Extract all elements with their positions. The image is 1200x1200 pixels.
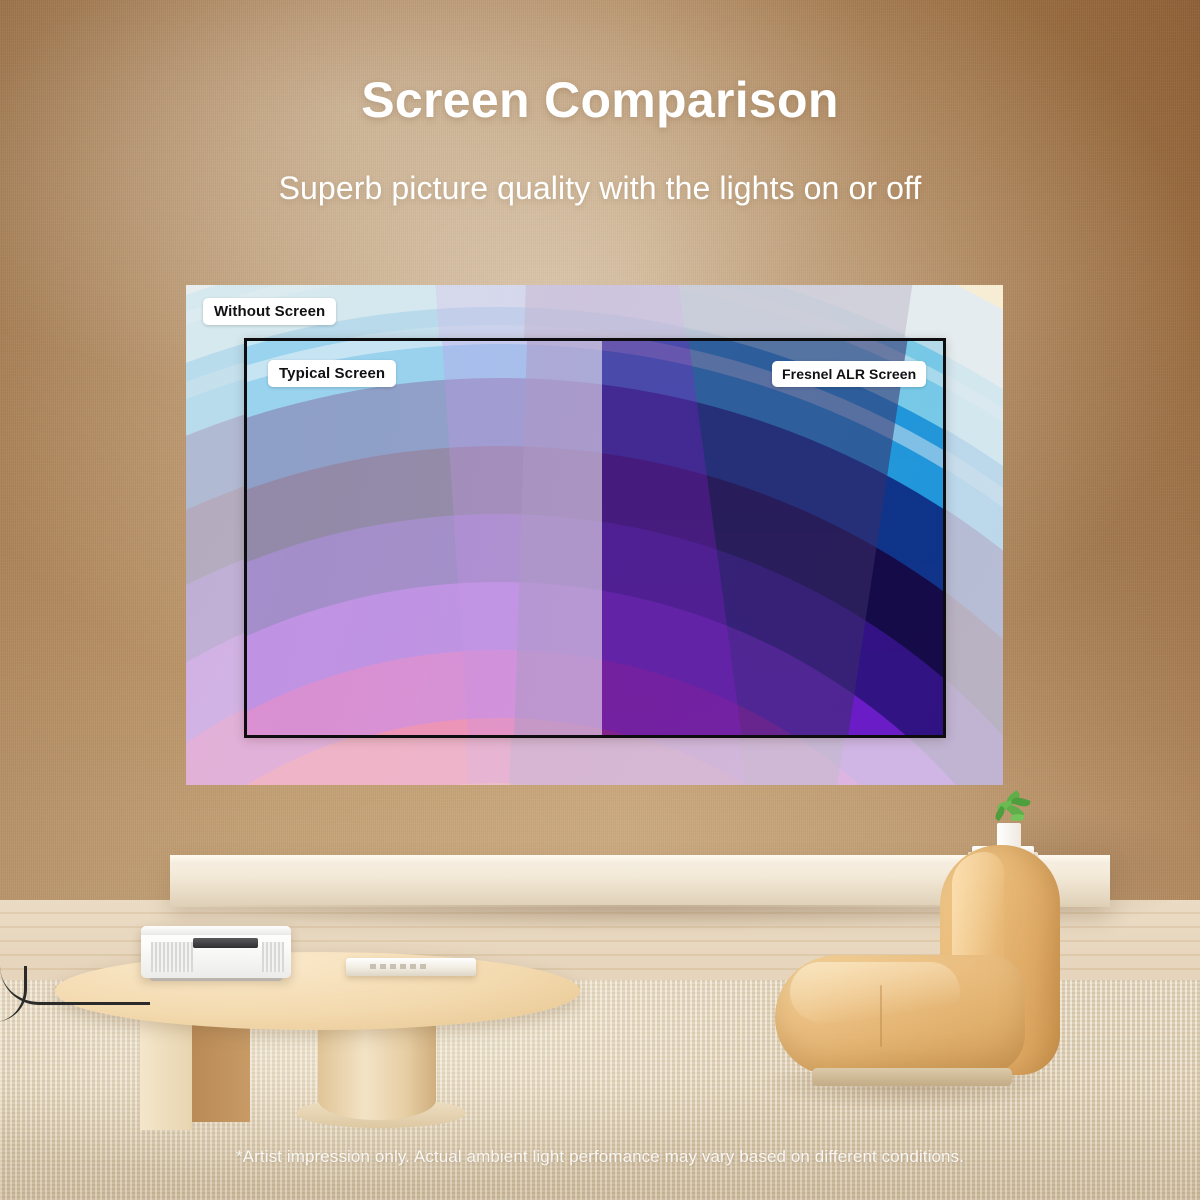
projector-vent-left [151,942,193,972]
projector-lid [141,926,291,935]
table-leg-slab [140,1010,192,1130]
fresnel-screen-contrast [602,341,943,735]
comparison-screen [244,338,946,738]
page-subtitle: Superb picture quality with the lights o… [0,170,1200,207]
plant-icon [985,792,1035,828]
label-without-screen: Without Screen [203,298,336,325]
typical-screen-washout-tint [247,341,602,735]
disclaimer-text: *Artist impression only. Actual ambient … [0,1147,1200,1167]
table-book-text [370,964,428,969]
page-title: Screen Comparison [0,71,1200,129]
lounge-chair-base [812,1068,1012,1086]
lounge-chair-seat-highlight [790,962,960,1022]
lounge-chair-crease [880,985,882,1047]
label-typical-screen: Typical Screen [268,360,396,387]
label-fresnel-alr-screen: Fresnel ALR Screen [772,361,926,387]
projector-lens [193,938,258,948]
projector-vent-right [262,942,284,972]
